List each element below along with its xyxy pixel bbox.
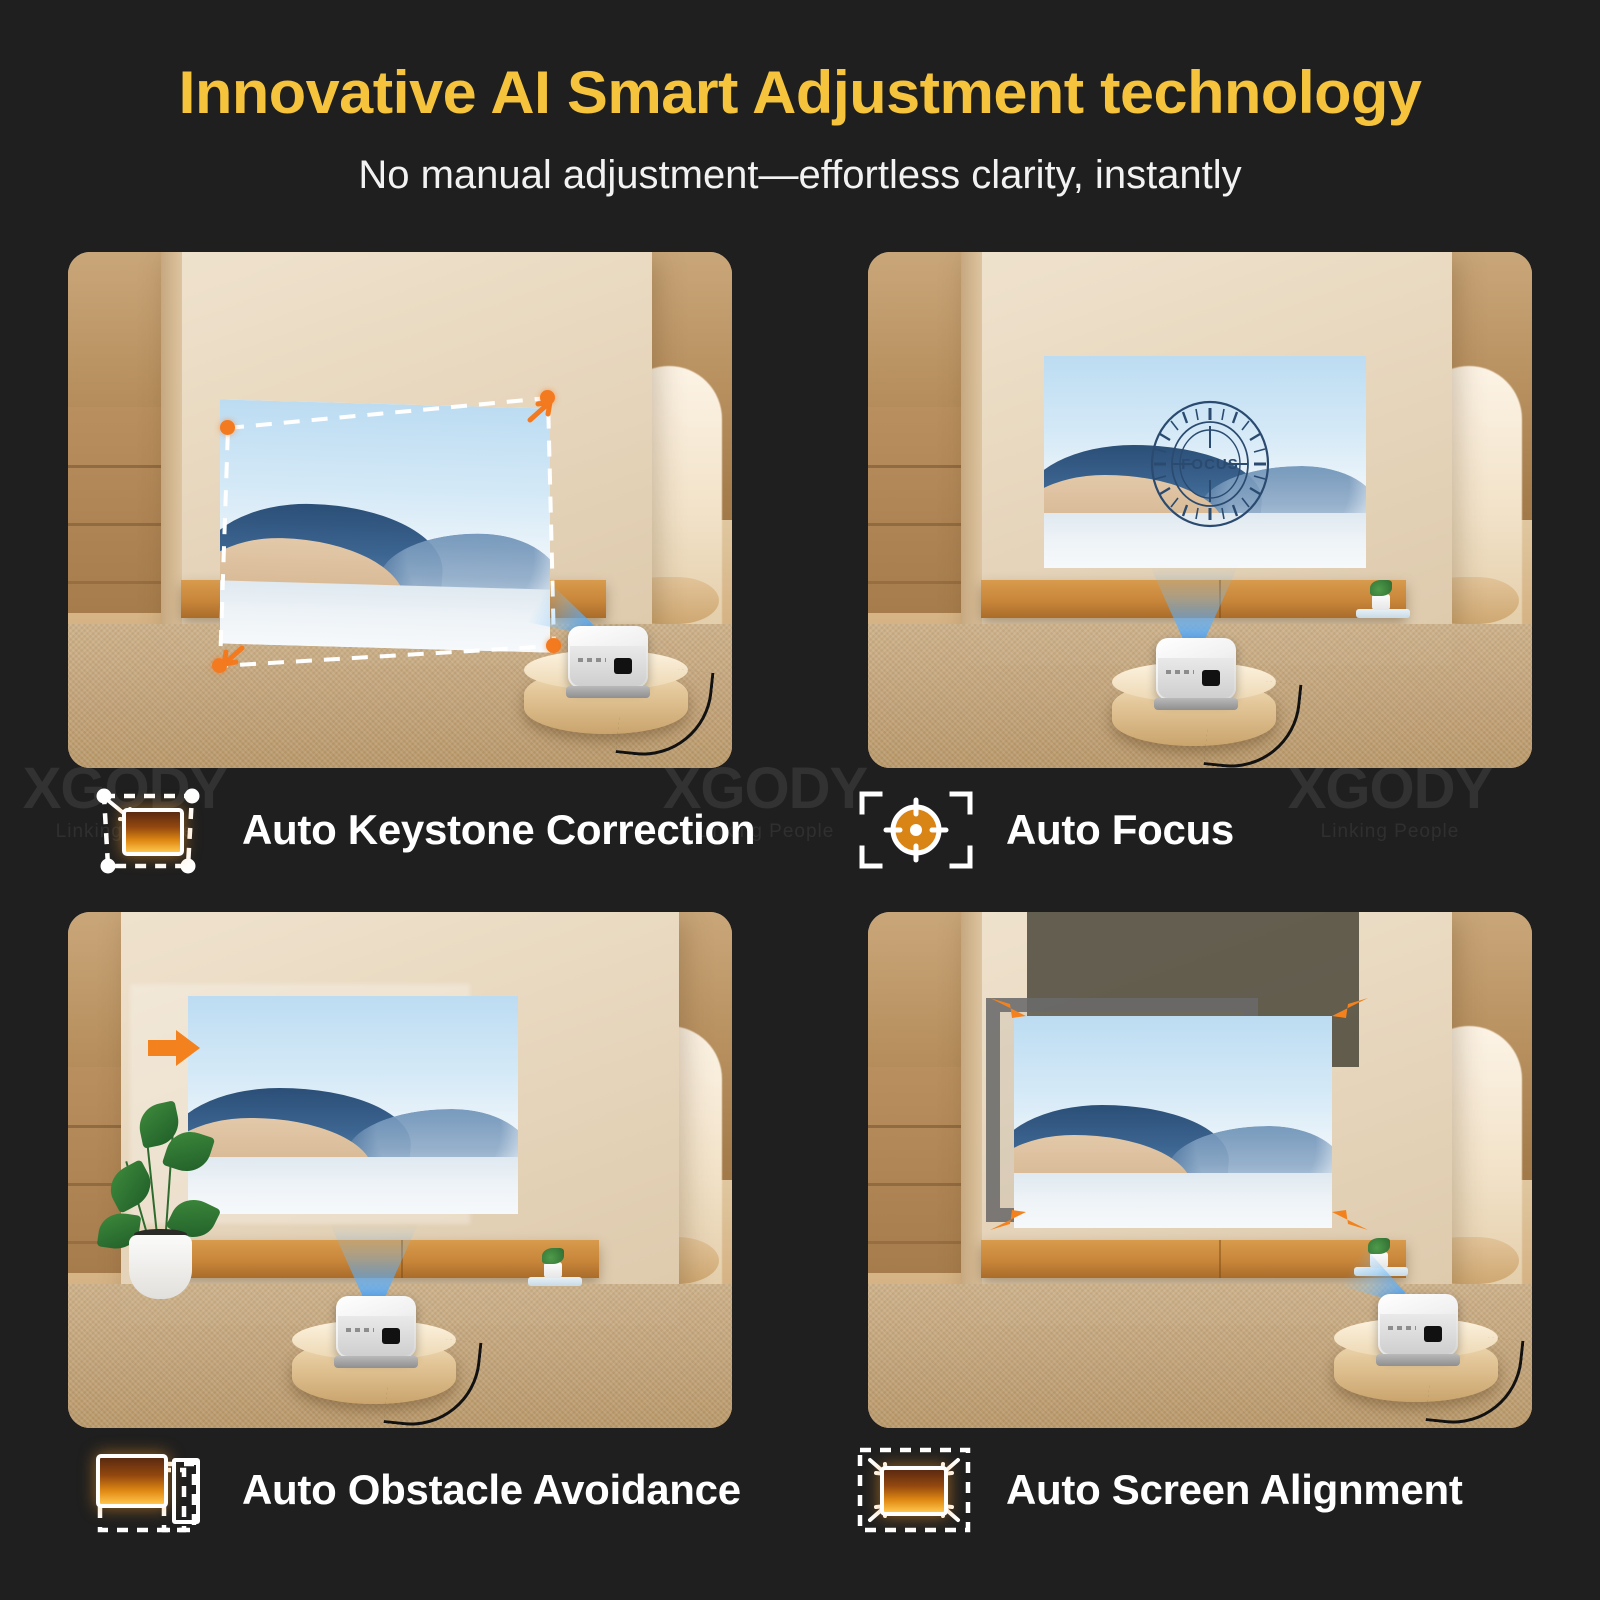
promo-page: XGODY Linking People XGODY Linking Peopl… bbox=[0, 0, 1600, 1600]
greenery bbox=[1370, 580, 1392, 596]
wall-edge bbox=[961, 912, 982, 1325]
dashed-frame-inward-arrows-icon bbox=[852, 1442, 980, 1538]
lake bbox=[220, 580, 550, 653]
feature-label: Auto Screen Alignment bbox=[1006, 1466, 1463, 1514]
focus-dial-overlay: FOCUS bbox=[1140, 396, 1280, 532]
screen-swatch bbox=[880, 1466, 948, 1516]
projector-vents bbox=[346, 1328, 374, 1332]
left-shelving bbox=[868, 407, 964, 613]
projected-image bbox=[188, 996, 518, 1214]
keystone-handle[interactable] bbox=[212, 658, 227, 673]
feature-label: Auto Focus bbox=[1006, 806, 1234, 854]
screen-swatch bbox=[122, 808, 184, 856]
screen-with-obstacle-icon bbox=[88, 1442, 216, 1538]
page-subtitle: No manual adjustment—effortless clarity,… bbox=[0, 153, 1600, 198]
feature-row-bottom: Auto Obstacle Avoidance bbox=[0, 912, 1600, 1572]
greenery bbox=[1368, 1238, 1390, 1254]
wall-edge bbox=[161, 252, 182, 665]
room-scene bbox=[868, 912, 1532, 1428]
screen-swatch bbox=[96, 1454, 168, 1508]
portable-projector bbox=[1368, 1280, 1464, 1372]
panel-focus: FOCUS bbox=[868, 252, 1532, 768]
left-shelving bbox=[868, 1067, 964, 1273]
tray bbox=[528, 1277, 582, 1286]
wall-edge bbox=[961, 252, 982, 665]
panel-alignment bbox=[868, 912, 1532, 1428]
lake bbox=[188, 1157, 518, 1214]
align-arrow-bottom-right bbox=[1328, 1200, 1370, 1234]
align-arrow-top-right bbox=[1328, 994, 1370, 1028]
feature-auto-focus[interactable]: Auto Focus bbox=[852, 782, 1234, 878]
pot bbox=[1372, 594, 1390, 610]
projector-vents bbox=[1166, 670, 1194, 674]
keystone-dashed-quad-icon bbox=[88, 782, 216, 878]
panel-keystone bbox=[68, 252, 732, 768]
pot bbox=[544, 1262, 562, 1278]
room-scene bbox=[68, 252, 732, 768]
panel-obstacle bbox=[68, 912, 732, 1428]
keystone-handle[interactable] bbox=[540, 390, 555, 405]
portable-projector bbox=[1146, 624, 1242, 716]
side-plant bbox=[1366, 584, 1396, 618]
header: Innovative AI Smart Adjustment technolog… bbox=[0, 0, 1600, 198]
greenery bbox=[542, 1248, 564, 1264]
crosshair-target-icon bbox=[852, 782, 980, 878]
feature-labels-bottom: Auto Obstacle Avoidance bbox=[0, 1428, 1600, 1572]
projector-vents bbox=[1388, 1326, 1416, 1330]
projected-image bbox=[220, 399, 550, 652]
feature-auto-obstacle-avoidance[interactable]: Auto Obstacle Avoidance bbox=[88, 1442, 741, 1538]
feature-labels-top: Auto Keystone Correction bbox=[0, 768, 1600, 912]
room-scene: FOCUS bbox=[868, 252, 1532, 768]
feature-label: Auto Obstacle Avoidance bbox=[242, 1466, 741, 1514]
keystone-handle[interactable] bbox=[220, 420, 235, 435]
page-title: Innovative AI Smart Adjustment technolog… bbox=[0, 58, 1600, 127]
portable-projector bbox=[326, 1282, 422, 1374]
tray bbox=[1356, 609, 1410, 618]
shift-arrow-icon bbox=[146, 1028, 202, 1068]
room-scene bbox=[68, 912, 732, 1428]
projector-vents bbox=[578, 658, 606, 662]
lake bbox=[1014, 1173, 1332, 1228]
feature-auto-keystone-correction[interactable]: Auto Keystone Correction bbox=[88, 782, 755, 878]
side-plant bbox=[538, 1252, 568, 1286]
obstacle-bar bbox=[172, 1458, 200, 1524]
feature-label: Auto Keystone Correction bbox=[242, 806, 755, 854]
left-shelving bbox=[68, 407, 164, 613]
portable-projector bbox=[558, 612, 654, 704]
align-arrow-top-left bbox=[988, 994, 1030, 1028]
feature-row-top: FOCUS bbox=[0, 252, 1600, 912]
plant-pot bbox=[129, 1235, 192, 1299]
feature-grid: FOCUS bbox=[0, 252, 1600, 1572]
feature-auto-screen-alignment[interactable]: Auto Screen Alignment bbox=[852, 1442, 1463, 1538]
align-arrow-bottom-left bbox=[988, 1200, 1030, 1234]
projected-image bbox=[1014, 1016, 1332, 1228]
obstacle-plant bbox=[101, 1072, 227, 1299]
svg-text:FOCUS: FOCUS bbox=[1181, 456, 1239, 473]
wood-ledge bbox=[981, 1240, 1406, 1279]
